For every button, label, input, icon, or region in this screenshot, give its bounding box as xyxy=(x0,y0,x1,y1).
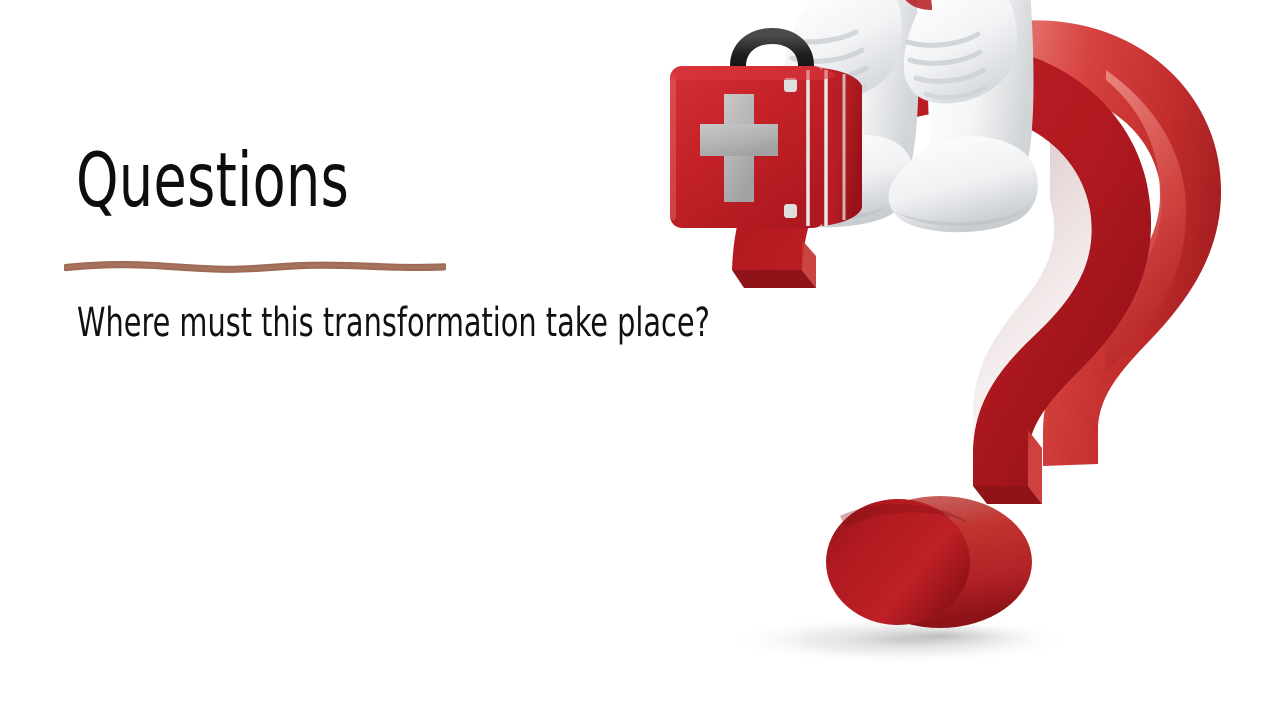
title-divider xyxy=(64,256,446,276)
slide-text-block: Questions Where must this transformation… xyxy=(0,0,700,720)
page-title: Questions xyxy=(76,143,349,218)
kit-clasp-bottom xyxy=(784,204,797,218)
kit-top-face xyxy=(670,66,836,80)
question-mark-hook-base xyxy=(732,270,816,288)
hand-drawn-underline-icon xyxy=(64,256,446,276)
slide-canvas: Questions Where must this transformation… xyxy=(0,0,1280,720)
kit-edge-highlight xyxy=(670,74,676,220)
question-mark-illustration xyxy=(640,0,1280,720)
kit-clasp-top xyxy=(784,78,797,92)
slide-subtitle: Where must this transformation take plac… xyxy=(77,300,710,346)
question-mark-illustration-svg xyxy=(640,0,1280,720)
first-aid-kit-side xyxy=(822,68,862,226)
